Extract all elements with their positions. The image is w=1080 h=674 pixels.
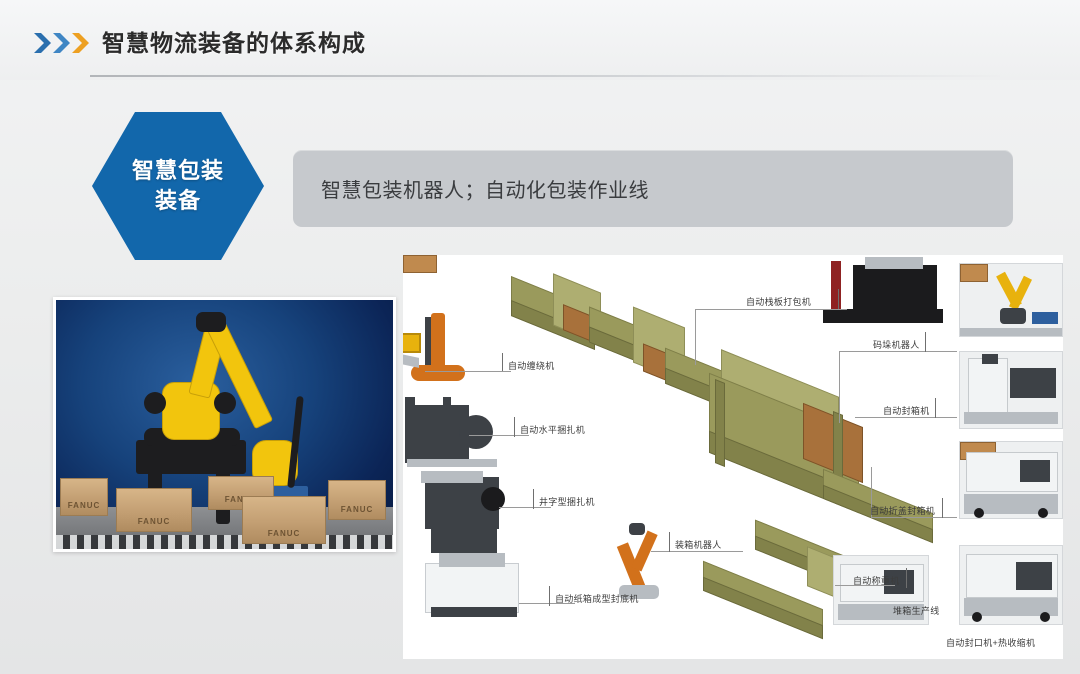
leader-line [855, 417, 957, 418]
carton-box: FANUC [242, 496, 326, 544]
diagram-label-sealer-shrink: 自动封口机+热收缩机 [946, 636, 1035, 649]
carton-former-base [431, 607, 517, 617]
robot-elbow [196, 312, 226, 332]
carton-box: FANUC [116, 488, 192, 532]
conveyor-rollers [56, 535, 393, 549]
leader-tick [533, 489, 534, 509]
packaging-line-diagram: 自动缠绕机 自动栈板打包机 自动水平捆扎机 井字型捆扎机 自动纸箱成型封底机 装… [403, 255, 1063, 659]
pallet-strapper-column [831, 261, 841, 313]
gantry-column-left [715, 379, 725, 467]
carton-box: FANUC [60, 478, 108, 516]
thumb-auto-case-sealer [959, 351, 1063, 429]
badge-label: 智慧包装 装备 [92, 112, 264, 260]
leader-tick [514, 417, 515, 437]
robot-joint-left [144, 392, 166, 414]
leader-line [839, 351, 957, 352]
page-title: 智慧物流装备的体系构成 [102, 28, 366, 58]
leader-tick [549, 586, 550, 606]
box-brand: FANUC [117, 517, 191, 526]
leader-tick [502, 353, 503, 371]
diagram-label-carton-forming-sealer: 自动纸箱成型封底机 [555, 592, 639, 605]
h-strapper-column-right [443, 397, 451, 463]
leader-tick [906, 568, 907, 588]
leader-line [839, 351, 840, 423]
leader-tick [935, 398, 936, 418]
diagram-label-auto-pallet-strapper: 自动栈板打包机 [746, 295, 811, 308]
leader-line [871, 517, 957, 518]
thumb-palletizing-robot [959, 263, 1063, 337]
leader-tick [942, 498, 943, 518]
leader-line [695, 309, 696, 365]
leader-tick [838, 289, 839, 309]
carton-box: FANUC [328, 480, 386, 520]
diagram-label-auto-case-sealer: 自动封箱机 [883, 404, 930, 417]
diagram-label-case-packing-robot: 装箱机器人 [675, 538, 722, 551]
leader-tick [669, 532, 670, 552]
h-strapper-coil [459, 415, 493, 449]
winder-carriage [431, 313, 445, 371]
box-brand: FANUC [243, 529, 325, 538]
thumb-auto-flap-sealer [959, 441, 1063, 519]
thumb-sealer-shrink-wrapper [959, 545, 1063, 625]
robot-joint-right [214, 392, 236, 414]
carton-former-blank [403, 255, 437, 273]
caption-text: 智慧包装机器人；自动化包装作业线 [293, 174, 649, 203]
diagram-label-auto-flap-sealer: 自动折盖封箱机 [870, 504, 935, 517]
leader-line [651, 551, 743, 552]
leader-tick [925, 332, 926, 352]
diagram-label-auto-winding-machine: 自动缠绕机 [508, 359, 555, 372]
cross-strapper-base [431, 523, 497, 553]
pallet-strapper-head [865, 257, 923, 269]
packing-robot-head [629, 523, 645, 535]
winder-pallet-frame [403, 333, 421, 353]
winder-turntable [411, 365, 465, 381]
carton-former-body [425, 563, 519, 613]
leader-line [425, 371, 511, 372]
badge-label-line1: 智慧包装 [132, 156, 224, 186]
cross-strapper-top [421, 471, 483, 483]
pallet-strapper-base [823, 309, 943, 323]
h-strapper-base [407, 459, 497, 467]
diagram-label-palletizing-robot: 码垛机器人 [873, 338, 920, 351]
caption-bar: 智慧包装机器人；自动化包装作业线 [293, 150, 1013, 227]
leader-line [695, 309, 847, 310]
badge-label-line2: 装备 [155, 186, 201, 216]
title-divider [90, 75, 1000, 77]
fanuc-palletizing-robot-photo: FANUC FANUC FANUC FANUC FANUC [53, 297, 396, 552]
diagram-label-auto-horizontal-strapper: 自动水平捆扎机 [520, 423, 585, 436]
box-brand: FANUC [329, 505, 385, 514]
diagram-label-stacking-line: 堆箱生产线 [893, 604, 940, 617]
h-strapper-column-left [405, 397, 415, 463]
slide-header: 智慧物流装备的体系构成 [0, 0, 1080, 80]
category-badge-hexagon: 智慧包装 装备 [92, 112, 264, 260]
photo-inner: FANUC FANUC FANUC FANUC FANUC [56, 300, 393, 549]
diagram-label-auto-weighing: 自动称重机 [853, 574, 900, 587]
carton-former-hopper [439, 553, 505, 567]
chevron-group-icon [32, 31, 94, 55]
box-brand: FANUC [61, 501, 107, 510]
diagram-label-cross-type-strapper: 井字型捆扎机 [539, 495, 595, 508]
